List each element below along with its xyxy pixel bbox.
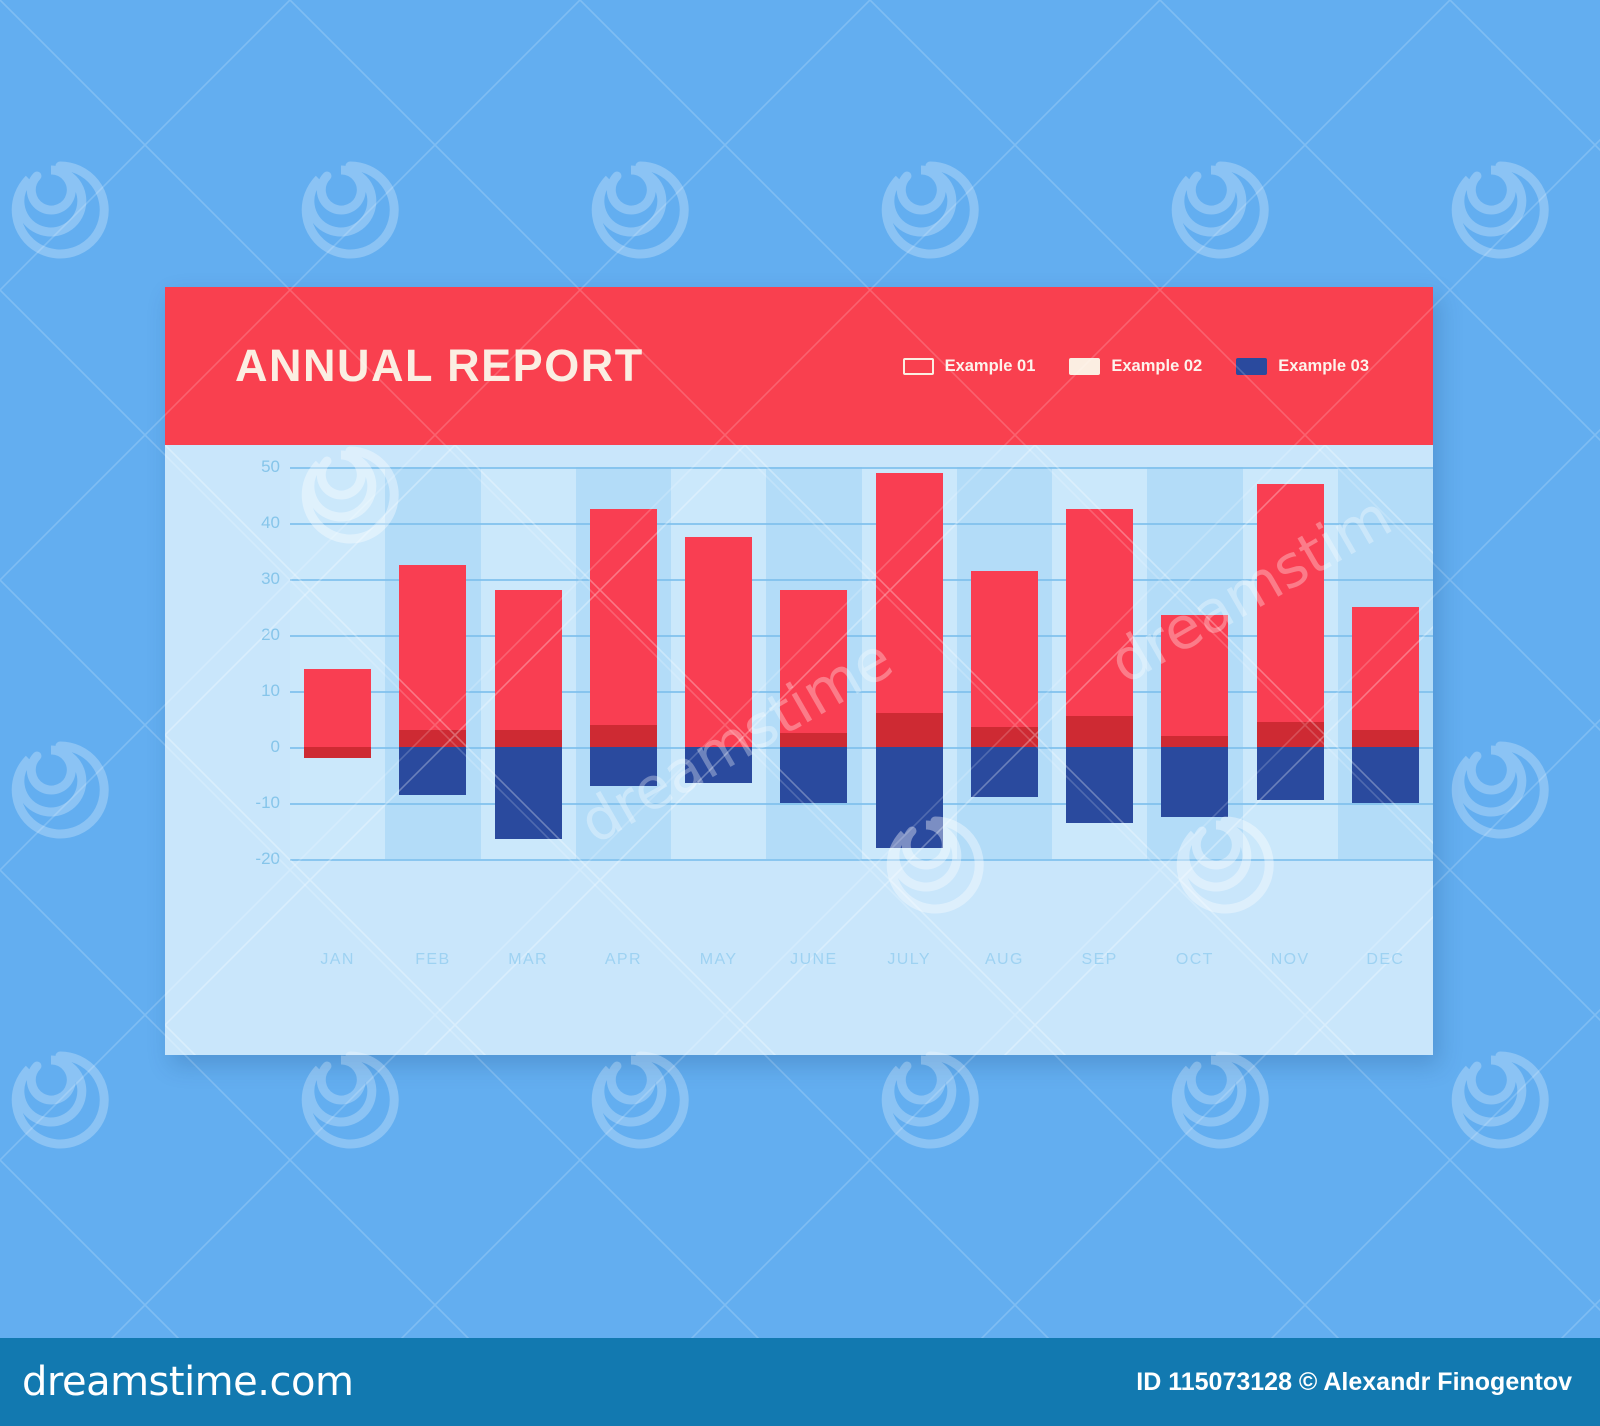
bar-segment-example-01[interactable] <box>971 571 1038 728</box>
bar-segment-example-03[interactable] <box>495 747 562 839</box>
gridline <box>290 803 1433 805</box>
x-axis-tick-label: JULY <box>887 951 931 969</box>
legend-label: Example 01 <box>945 357 1036 376</box>
bar-segment-example-01[interactable] <box>876 473 943 714</box>
bar-segment-example-03[interactable] <box>1161 747 1228 817</box>
bar-segment-example-01[interactable] <box>1066 509 1133 716</box>
x-axis-tick-label: DEC <box>1366 951 1404 969</box>
y-axis-tick-label: 20 <box>228 625 280 645</box>
chart-legend: Example 01 Example 02 Example 03 <box>903 357 1393 376</box>
gridline <box>290 859 1433 861</box>
bar-segment-example-03[interactable] <box>1066 747 1133 823</box>
y-axis-tick-label: 0 <box>228 737 280 757</box>
stock-footer: dreamstime.com ID 115073128 © Alexandr F… <box>0 1338 1600 1426</box>
legend-item-example-01[interactable]: Example 01 <box>903 357 1036 376</box>
x-axis-tick-label: MAR <box>508 951 548 969</box>
bar-segment-example-03[interactable] <box>1352 747 1419 803</box>
annual-report-card: ANNUAL REPORT Example 01 Example 02 Exam… <box>165 287 1433 1055</box>
bar-segment-example-02[interactable] <box>399 730 466 747</box>
x-axis-tick-label: NOV <box>1271 951 1310 969</box>
chart-panel: 50403020100-10-20 dreamstime dreamstim J… <box>165 445 1433 1055</box>
legend-item-example-02[interactable]: Example 02 <box>1069 357 1202 376</box>
image-credit: ID 115073128 © Alexandr Finogentov <box>1136 1368 1572 1397</box>
y-axis-tick-label: -20 <box>228 849 280 869</box>
y-axis: 50403020100-10-20 <box>220 445 280 1055</box>
bar-segment-example-02[interactable] <box>1066 716 1133 747</box>
gridline <box>290 467 1433 469</box>
bar-segment-example-02[interactable] <box>590 725 657 747</box>
y-axis-tick-label: 30 <box>228 569 280 589</box>
bar-segment-example-03[interactable] <box>399 747 466 795</box>
bar-segment-example-02[interactable] <box>1352 730 1419 747</box>
bar-segment-example-02[interactable] <box>780 733 847 747</box>
bar-segment-example-01[interactable] <box>1161 615 1228 735</box>
legend-label: Example 03 <box>1278 357 1369 376</box>
bar-segment-example-01[interactable] <box>685 537 752 747</box>
card-header: ANNUAL REPORT Example 01 Example 02 Exam… <box>165 287 1433 445</box>
x-axis-tick-label: AUG <box>985 951 1024 969</box>
y-axis-tick-label: 50 <box>228 457 280 477</box>
x-axis-tick-label: APR <box>605 951 642 969</box>
dreamstime-logo-suffix: .com <box>257 1359 353 1405</box>
bar-segment-example-01[interactable] <box>780 590 847 733</box>
bar-segment-example-03[interactable] <box>780 747 847 803</box>
bar-segment-example-02[interactable] <box>1161 736 1228 747</box>
bar-segment-example-03[interactable] <box>590 747 657 786</box>
legend-swatch-blue-icon <box>1236 358 1267 375</box>
bar-segment-example-03[interactable] <box>685 747 752 783</box>
x-axis-tick-label: SEP <box>1082 951 1118 969</box>
legend-label: Example 02 <box>1111 357 1202 376</box>
x-axis-tick-label: JUNE <box>790 951 837 969</box>
bar-segment-example-01[interactable] <box>1257 484 1324 722</box>
x-axis-tick-label: OCT <box>1176 951 1214 969</box>
y-axis-tick-label: 40 <box>228 513 280 533</box>
legend-item-example-03[interactable]: Example 03 <box>1236 357 1369 376</box>
bar-segment-example-01[interactable] <box>304 669 371 747</box>
y-axis-tick-label: -10 <box>228 793 280 813</box>
bar-segment-example-03[interactable] <box>971 747 1038 797</box>
x-axis-tick-label: MAY <box>700 951 738 969</box>
y-axis-tick-label: 10 <box>228 681 280 701</box>
bar-segment-example-01[interactable] <box>1352 607 1419 730</box>
x-axis-tick-label: FEB <box>415 951 450 969</box>
dreamstime-logo: dreamstime.com <box>22 1359 353 1405</box>
bar-segment-example-01[interactable] <box>495 590 562 730</box>
bar-segment-example-01[interactable] <box>399 565 466 730</box>
page-title: ANNUAL REPORT <box>235 340 644 392</box>
bar-segment-example-01[interactable] <box>590 509 657 725</box>
bar-segment-example-03[interactable] <box>1257 747 1324 800</box>
bar-segment-example-02[interactable] <box>495 730 562 747</box>
legend-swatch-outline-icon <box>903 358 934 375</box>
x-axis-tick-label: JAN <box>320 951 354 969</box>
bar-segment-example-02[interactable] <box>876 713 943 747</box>
dreamstime-logo-text: dreamstime <box>22 1359 257 1405</box>
legend-swatch-filled-icon <box>1069 358 1100 375</box>
plot-area <box>290 445 1433 1055</box>
bar-segment-example-02[interactable] <box>1257 722 1324 747</box>
bar-segment-example-02[interactable] <box>971 727 1038 747</box>
bar-segment-example-03[interactable] <box>876 747 943 848</box>
column-band <box>290 467 385 859</box>
bar-segment-example-02[interactable] <box>304 747 371 758</box>
